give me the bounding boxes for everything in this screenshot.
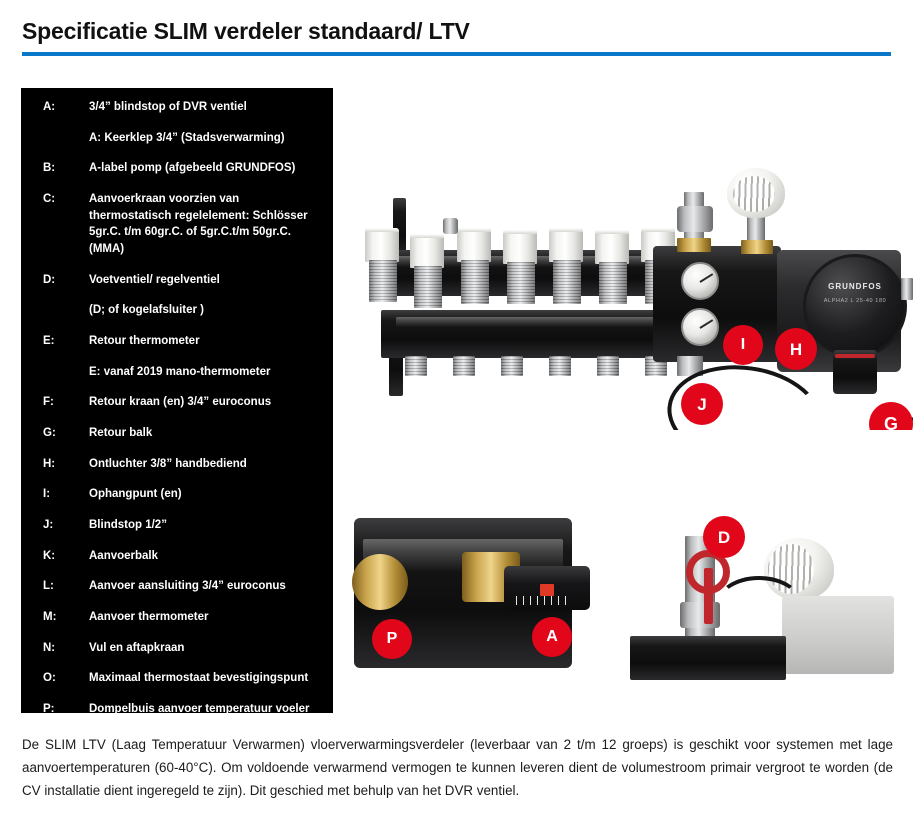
pump-model-label: ALPHA2 L 25-40 180 [806, 298, 904, 304]
kogelafsluiter-koppeling [680, 602, 720, 628]
legend-key: D: [43, 272, 89, 289]
legend-key: P: [43, 701, 89, 718]
aansluit-tag [901, 278, 913, 300]
dvr-schaalverdeling [516, 596, 572, 605]
legend-description: A: Keerklep 3/4” (Stadsverwarming) [89, 130, 285, 147]
pump-brand-label: GRUNDFOS [806, 282, 904, 291]
legend-key: N: [43, 640, 89, 657]
legend-key: B: [43, 160, 89, 177]
legend-description: Retour thermometer [89, 333, 200, 350]
rode-hendel [704, 568, 713, 624]
legend-row: E:E: vanaf 2019 mano-thermometer [43, 364, 323, 381]
aanvoer-euroconus [453, 356, 475, 376]
aanvoer-euroconus [405, 356, 427, 376]
legend-description: Ophangpunt (en) [89, 486, 182, 503]
legend-description: Aanvoer thermometer [89, 609, 209, 626]
legend-row: E:Retour thermometer [43, 333, 323, 350]
page-header: Specificatie SLIM verdeler standaard/ LT… [22, 18, 891, 56]
legend-key: E: [43, 333, 89, 350]
dvr-ventiel-detail-photo: PA [352, 508, 616, 706]
retour-kraan-cap [365, 228, 399, 262]
retour-kraan-body [461, 260, 489, 304]
legend-key: F: [43, 394, 89, 411]
legend-key: I: [43, 486, 89, 503]
retour-thermometer [681, 262, 719, 300]
callout-badge-d: D [703, 516, 745, 558]
legend-key: A: [43, 99, 89, 116]
legend-row: I:Ophangpunt (en) [43, 486, 323, 503]
legend-description: Aanvoerbalk [89, 548, 158, 565]
voetventiel-detail-photo: D [630, 508, 913, 706]
legend-description: Retour kraan (en) 3/4” euroconus [89, 394, 271, 411]
legend-description: A-label pomp (afgebeeld GRUNDFOS) [89, 160, 295, 177]
dvr-rode-indicator [540, 584, 554, 596]
dvr-brass-port [352, 554, 408, 610]
callout-badge-h: H [775, 328, 817, 370]
page-title: Specificatie SLIM verdeler standaard/ LT… [22, 18, 891, 44]
body-paragraph: De SLIM LTV (Laag Temperatuur Verwarmen)… [22, 733, 893, 802]
legend-row: G:Retour balk [43, 425, 323, 442]
legend-description: Maximaal thermostaat bevestigingspunt [89, 670, 308, 687]
callout-badge-p: P [372, 619, 412, 659]
kabel-lus [716, 576, 802, 632]
legend-row: F:Retour kraan (en) 3/4” euroconus [43, 394, 323, 411]
legend-key: M: [43, 609, 89, 626]
legend-row: M:Aanvoer thermometer [43, 609, 323, 626]
legend-key: G: [43, 425, 89, 442]
retour-kraan-body [414, 266, 442, 308]
callout-badge-i: I [723, 325, 763, 365]
legend-description: Dompelbuis aanvoer temperatuur voeler [89, 701, 309, 718]
callout-badge-j: J [681, 383, 723, 425]
title-divider [22, 52, 891, 56]
retour-kraan-body [599, 262, 627, 304]
thermostatisch-regelelement-ribs [733, 176, 775, 212]
retour-kraan-body [369, 260, 397, 302]
legend-description: Vul en aftapkraan [89, 640, 184, 657]
pomp-kop: GRUNDFOS ALPHA2 L 25-40 180 [803, 254, 907, 358]
retour-kraan-body [507, 262, 535, 304]
legend-row: N:Vul en aftapkraan [43, 640, 323, 657]
legend-panel: A:3/4” blindstop of DVR ventielA:A: Keer… [21, 88, 333, 713]
retour-kraan-cap [457, 228, 491, 262]
verdeler-balk-onderzijde [630, 636, 786, 680]
retour-kraan-body [553, 260, 581, 304]
legend-key: J: [43, 517, 89, 534]
legend-key: C: [43, 191, 89, 208]
voetventiel-cap [677, 206, 713, 232]
legend-row: D:(D; of kogelafsluiter ) [43, 302, 323, 319]
legend-description: Ontluchter 3/8” handbediend [89, 456, 247, 473]
legend-row: A:A: Keerklep 3/4” (Stadsverwarming) [43, 130, 323, 147]
callout-badge-a: A [532, 617, 572, 657]
retour-kraan-cap [503, 230, 537, 264]
legend-row: O:Maximaal thermostaat bevestigingspunt [43, 670, 323, 687]
aanvoerkraan-brass-nut [741, 240, 773, 254]
legend-row: C:Aanvoerkraan voorzien van thermostatis… [43, 191, 323, 258]
retour-kraan-cap [595, 230, 629, 264]
legend-key: K: [43, 548, 89, 565]
legend-description: E: vanaf 2019 mano-thermometer [89, 364, 271, 381]
legend-row: B:A-label pomp (afgebeeld GRUNDFOS) [43, 160, 323, 177]
legend-description: Voetventiel/ regelventiel [89, 272, 220, 289]
legend-description: (D; of kogelafsluiter ) [89, 302, 204, 319]
aanvoer-euroconus [549, 356, 571, 376]
aanvoer-euroconus [597, 356, 619, 376]
legend-description: Blindstop 1/2” [89, 517, 167, 534]
legend-key: L: [43, 578, 89, 595]
legend-description: Retour balk [89, 425, 152, 442]
legend-row: L:Aanvoer aansluiting 3/4” euroconus [43, 578, 323, 595]
legend-row: J:Blindstop 1/2” [43, 517, 323, 534]
legend-description: Aanvoer aansluiting 3/4” euroconus [89, 578, 286, 595]
ontluchter [443, 218, 458, 234]
legend-row: A:3/4” blindstop of DVR ventiel [43, 99, 323, 116]
voetventiel-brass-nut [677, 238, 711, 252]
slim-verdeler-manifold-photo: GRUNDFOS ALPHA2 L 25-40 180 IHDCIJFEAGBJ… [345, 150, 913, 430]
legend-row: K:Aanvoerbalk [43, 548, 323, 565]
aanvoer-thermometer [681, 308, 719, 346]
legend-row: H:Ontluchter 3/8” handbediend [43, 456, 323, 473]
retour-kraan-cap [410, 234, 444, 268]
aanvoer-euroconus [501, 356, 523, 376]
pomp-rode-markering [835, 354, 875, 358]
retour-kraan-cap [549, 228, 583, 262]
legend-row: P:Dompelbuis aanvoer temperatuur voeler [43, 701, 323, 718]
legend-key: O: [43, 670, 89, 687]
legend-row: D:Voetventiel/ regelventiel [43, 272, 323, 289]
legend-description: Aanvoerkraan voorzien van thermostatisch… [89, 191, 321, 258]
legend-key: H: [43, 456, 89, 473]
legend-description: 3/4” blindstop of DVR ventiel [89, 99, 247, 116]
